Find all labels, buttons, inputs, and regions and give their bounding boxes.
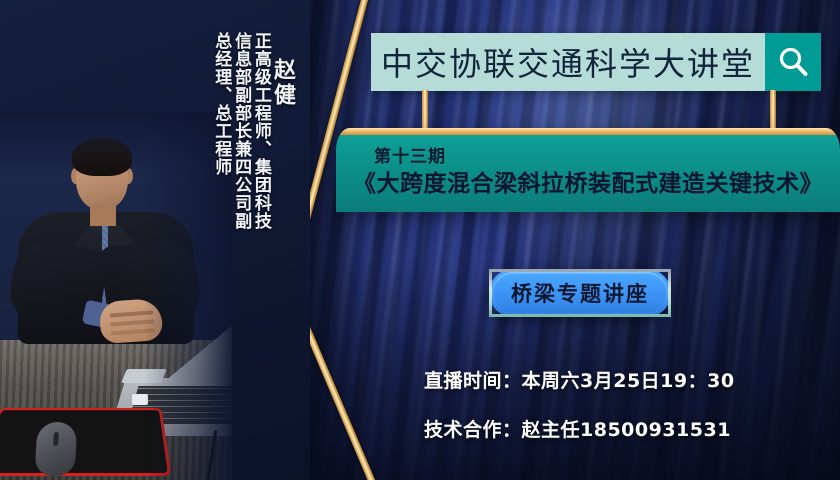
lecture-banner: 第十三期 《大跨度混合梁斜拉桥装配式建造关键技术》 (336, 128, 840, 212)
gold-hanger-right (770, 90, 776, 130)
photo-hands (99, 298, 164, 344)
event-info: 直播时间：本周六3月25日19：30 技术合作：赵主任18500931531 (424, 366, 735, 442)
speaker-photo (0, 112, 232, 480)
computer-mouse (35, 422, 78, 476)
search-button[interactable] (765, 33, 821, 91)
program-header-bar: 中交协联交通科学大讲堂 (371, 33, 821, 91)
contact-info: 技术合作：赵主任18500931531 (424, 415, 735, 442)
webinar-poster: 赵健 正高级工程师、集团科技 信息部副部长兼四公司副 总经理、总工程师 中交协联… (0, 0, 840, 480)
speaker-name: 赵健 (271, 58, 294, 108)
banner-gold-edge (336, 128, 840, 135)
topic-badge: 桥梁专题讲座 (489, 269, 671, 317)
broadcast-time: 直播时间：本周六3月25日19：30 (424, 366, 735, 393)
speaker-panel: 赵健 正高级工程师、集团科技 信息部副部长兼四公司副 总经理、总工程师 (0, 0, 310, 480)
mouse-pad (0, 408, 172, 476)
speaker-text-block: 赵健 正高级工程师、集团科技 信息部副部长兼四公司副 总经理、总工程师 (211, 18, 310, 318)
speaker-title-line-2: 信息部副部长兼四公司副 (231, 32, 249, 230)
photo-hair (72, 138, 132, 176)
lecture-title: 《大跨度混合梁斜拉桥装配式建造关键技术》 (336, 164, 840, 198)
laptop-sticker (132, 394, 148, 405)
search-icon (776, 45, 810, 79)
speaker-title-line-1: 正高级工程师、集团科技 (251, 32, 269, 230)
gold-hanger-left (422, 90, 428, 130)
laptop-trackpad (121, 369, 167, 383)
speaker-title-line-3: 总经理、总工程师 (211, 32, 229, 176)
program-title: 中交协联交通科学大讲堂 (371, 33, 765, 91)
